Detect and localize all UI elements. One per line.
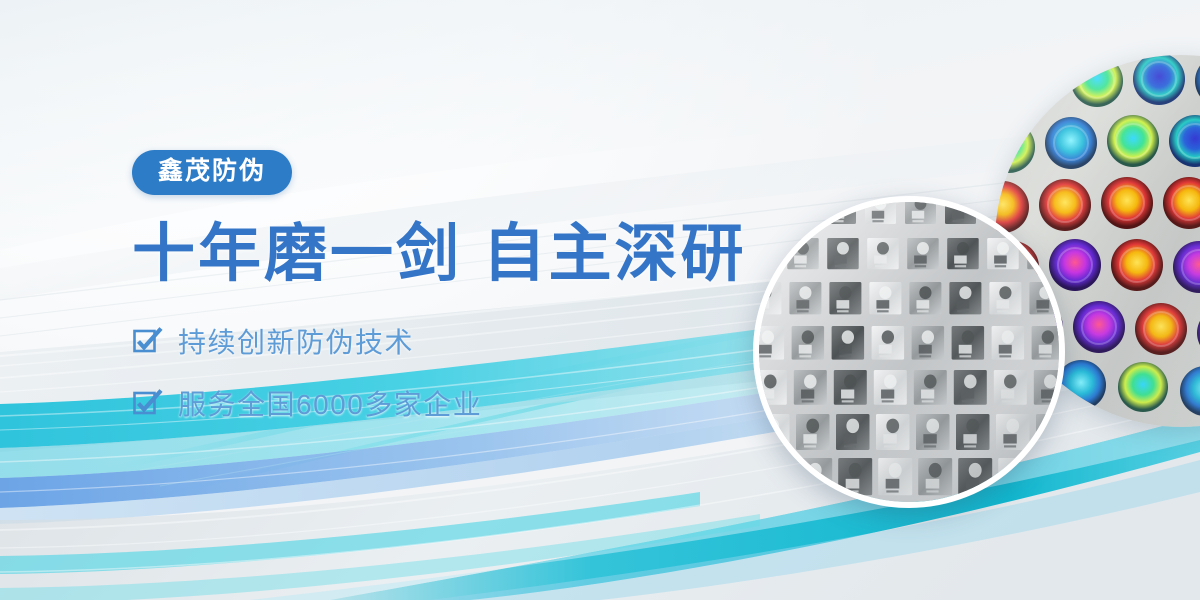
list-item-label: 服务全国6000多家企业 <box>178 383 482 423</box>
list-item: 服务全国6000多家企业 <box>132 380 772 426</box>
checkbox-check-icon <box>132 326 162 356</box>
brand-badge: 鑫茂防伪 <box>132 150 292 195</box>
feature-list: 持续创新防伪技术 服务全国6000多家企业 <box>132 318 772 426</box>
security-label-grid <box>759 202 1059 502</box>
list-item-label: 持续创新防伪技术 <box>178 321 414 361</box>
list-item: 持续创新防伪技术 <box>132 318 772 364</box>
banner-content: 鑫茂防伪 十年磨一剑 自主深研 持续创新防伪技术 <box>132 150 772 442</box>
page-title: 十年磨一剑 自主深研 <box>132 221 772 288</box>
promo-banner: 鑫茂防伪 十年磨一剑 自主深研 持续创新防伪技术 <box>0 0 1200 600</box>
checkbox-check-icon <box>132 388 162 418</box>
security-label-sheet-photo <box>753 196 1065 508</box>
